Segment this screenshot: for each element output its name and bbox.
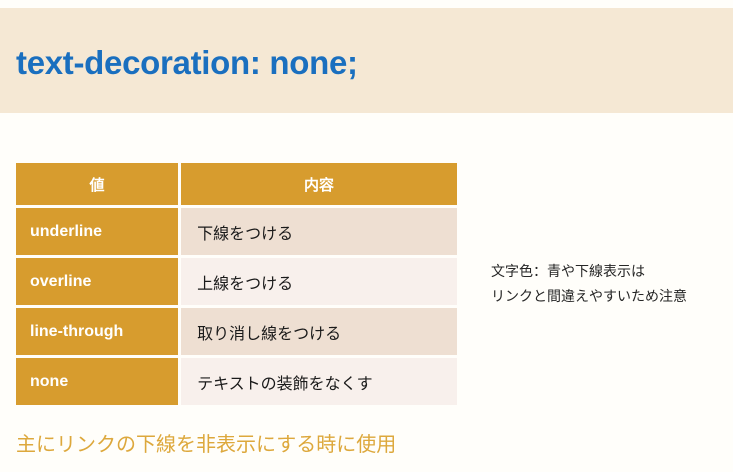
side-note-line-1: 文字色：青や下線表示は (491, 259, 731, 284)
table-header-row: 値 内容 (16, 163, 457, 208)
title-band: text-decoration: none; (0, 8, 733, 113)
table-row: overline 上線をつける (16, 258, 457, 308)
table-cell-value: line-through (16, 308, 181, 358)
slide-canvas: text-decoration: none; 値 内容 underline 下線… (0, 0, 733, 472)
side-note-line-2: リンクと間違えやすいため注意 (491, 284, 731, 309)
table-header-value: 値 (16, 163, 181, 208)
table-row: none テキストの装飾をなくす (16, 358, 457, 405)
table-cell-value: underline (16, 208, 181, 258)
table-row: underline 下線をつける (16, 208, 457, 258)
table-cell-description: 上線をつける (181, 258, 457, 308)
property-values-table: 値 内容 underline 下線をつける overline 上線をつける li… (16, 163, 457, 405)
table-cell-description: 取り消し線をつける (181, 308, 457, 358)
table-cell-value: none (16, 358, 181, 405)
side-note: 文字色：青や下線表示は リンクと間違えやすいため注意 (491, 259, 731, 308)
table-cell-description: テキストの装飾をなくす (181, 358, 457, 405)
page-title: text-decoration: none; (16, 44, 358, 82)
bottom-caption: 主にリンクの下線を非表示にする時に使用 (16, 433, 396, 457)
table-cell-value: overline (16, 258, 181, 308)
table-row: line-through 取り消し線をつける (16, 308, 457, 358)
table-cell-description: 下線をつける (181, 208, 457, 258)
table-header-description: 内容 (181, 163, 457, 208)
